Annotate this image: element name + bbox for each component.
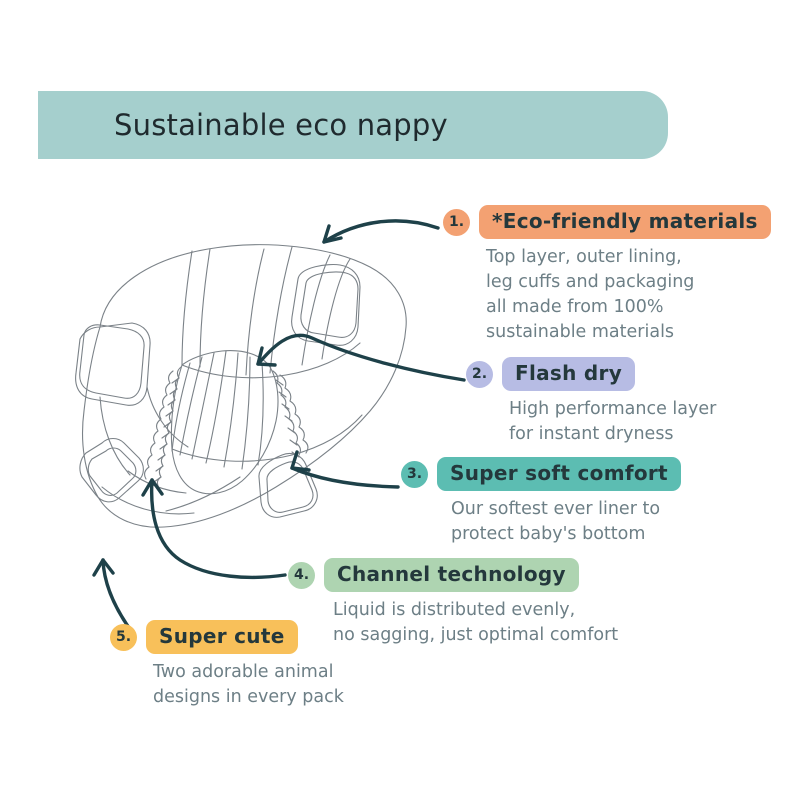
callout-number-badge-4: 4. xyxy=(288,562,315,589)
nappy-cutaway-illustration xyxy=(40,215,420,585)
callout-head: 2. Flash dry xyxy=(466,357,716,391)
callout-number-badge-5: 5. xyxy=(110,624,137,651)
callout-body-2: High performance layer for instant dryne… xyxy=(509,397,716,447)
callout-label-2: Flash dry xyxy=(502,357,635,391)
callout-super-cute: 5. Super cute Two adorable animal design… xyxy=(110,620,344,710)
callout-label-4: Channel technology xyxy=(324,558,579,592)
page-title: Sustainable eco nappy xyxy=(114,108,448,142)
callout-body-3: Our softest ever liner to protect baby's… xyxy=(451,497,681,547)
callout-head: 4. Channel technology xyxy=(288,558,618,592)
callout-label-3: Super soft comfort xyxy=(437,457,681,491)
title-banner: Sustainable eco nappy xyxy=(38,91,668,159)
callout-body-4: Liquid is distributed evenly, no sagging… xyxy=(333,598,618,648)
callout-body-5: Two adorable animal designs in every pac… xyxy=(153,660,344,710)
callout-super-soft-comfort: 3. Super soft comfort Our softest ever l… xyxy=(401,457,681,547)
callout-eco-friendly-materials: 1. *Eco-friendly materials Top layer, ou… xyxy=(443,205,771,344)
callout-head: 3. Super soft comfort xyxy=(401,457,681,491)
callout-number-badge-1: 1. xyxy=(443,209,470,236)
callout-flash-dry: 2. Flash dry High performance layer for … xyxy=(466,357,716,447)
callout-label-1: *Eco-friendly materials xyxy=(479,205,771,239)
callout-body-1: Top layer, outer lining, leg cuffs and p… xyxy=(486,245,771,344)
callout-number-badge-2: 2. xyxy=(466,361,493,388)
callout-head: 1. *Eco-friendly materials xyxy=(443,205,771,239)
callout-number-badge-3: 3. xyxy=(401,461,428,488)
callout-label-5: Super cute xyxy=(146,620,298,654)
infographic-page: Sustainable eco nappy xyxy=(0,0,800,800)
callout-head: 5. Super cute xyxy=(110,620,344,654)
